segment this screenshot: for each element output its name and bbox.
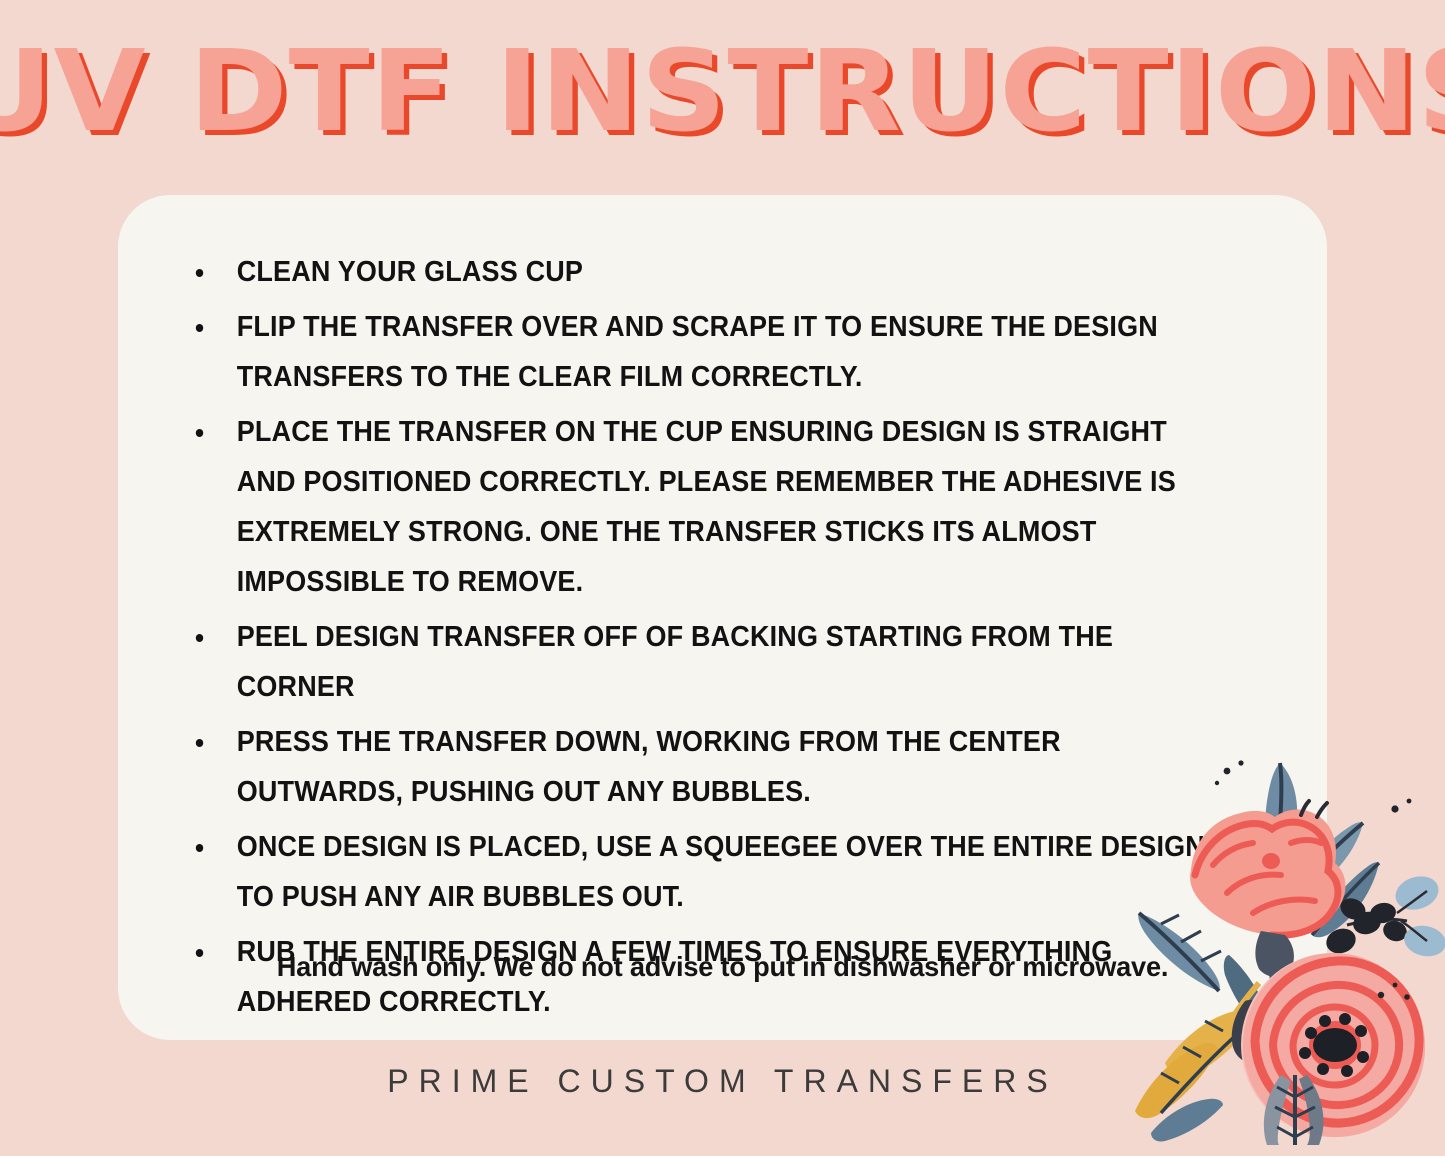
- instructions-list: Clean your glass cup Flip the transfer o…: [193, 247, 1293, 1040]
- list-item: Clean your glass cup: [193, 247, 1216, 297]
- list-item: Peel design transfer off of backing star…: [193, 612, 1216, 712]
- list-item: Once design is placed, use a squeegee ov…: [193, 822, 1216, 922]
- list-item-text: Once design is placed, use a squeegee ov…: [237, 831, 1205, 913]
- bullet-dot-icon: [196, 634, 203, 642]
- instructions-card: Clean your glass cup Flip the transfer o…: [118, 195, 1327, 1040]
- list-item-text: Peel design transfer off of backing star…: [237, 621, 1113, 703]
- poster-canvas: UV DTF INSTRUCTIONS Clean your glass cup…: [0, 0, 1445, 1156]
- care-note: Hand wash only. We do not advise to put …: [136, 950, 1309, 984]
- footer-brand: PRIME CUSTOM TRANSFERS: [0, 1063, 1445, 1100]
- list-item: Flip the transfer over and scrape it to …: [193, 302, 1216, 402]
- list-item: Place the transfer on the cup ensuring d…: [193, 407, 1216, 607]
- list-item: Press the transfer down, working from th…: [193, 717, 1216, 817]
- list-item-text: Press the transfer down, working from th…: [237, 726, 1061, 808]
- bullet-dot-icon: [196, 739, 203, 747]
- bullet-dot-icon: [196, 324, 203, 332]
- bullet-dot-icon: [196, 844, 203, 852]
- list-item: Slowly peel the clear film off and you’r…: [193, 1032, 1216, 1040]
- list-item-text: Clean your glass cup: [237, 256, 583, 288]
- page-title: UV DTF INSTRUCTIONS: [0, 36, 1445, 148]
- bullet-dot-icon: [196, 429, 203, 437]
- bullet-dot-icon: [196, 269, 203, 277]
- list-item-text: Place the transfer on the cup ensuring d…: [237, 416, 1176, 598]
- list-item-text: Flip the transfer over and scrape it to …: [237, 311, 1158, 393]
- page-title-text: UV DTF INSTRUCTIONS: [0, 36, 1445, 148]
